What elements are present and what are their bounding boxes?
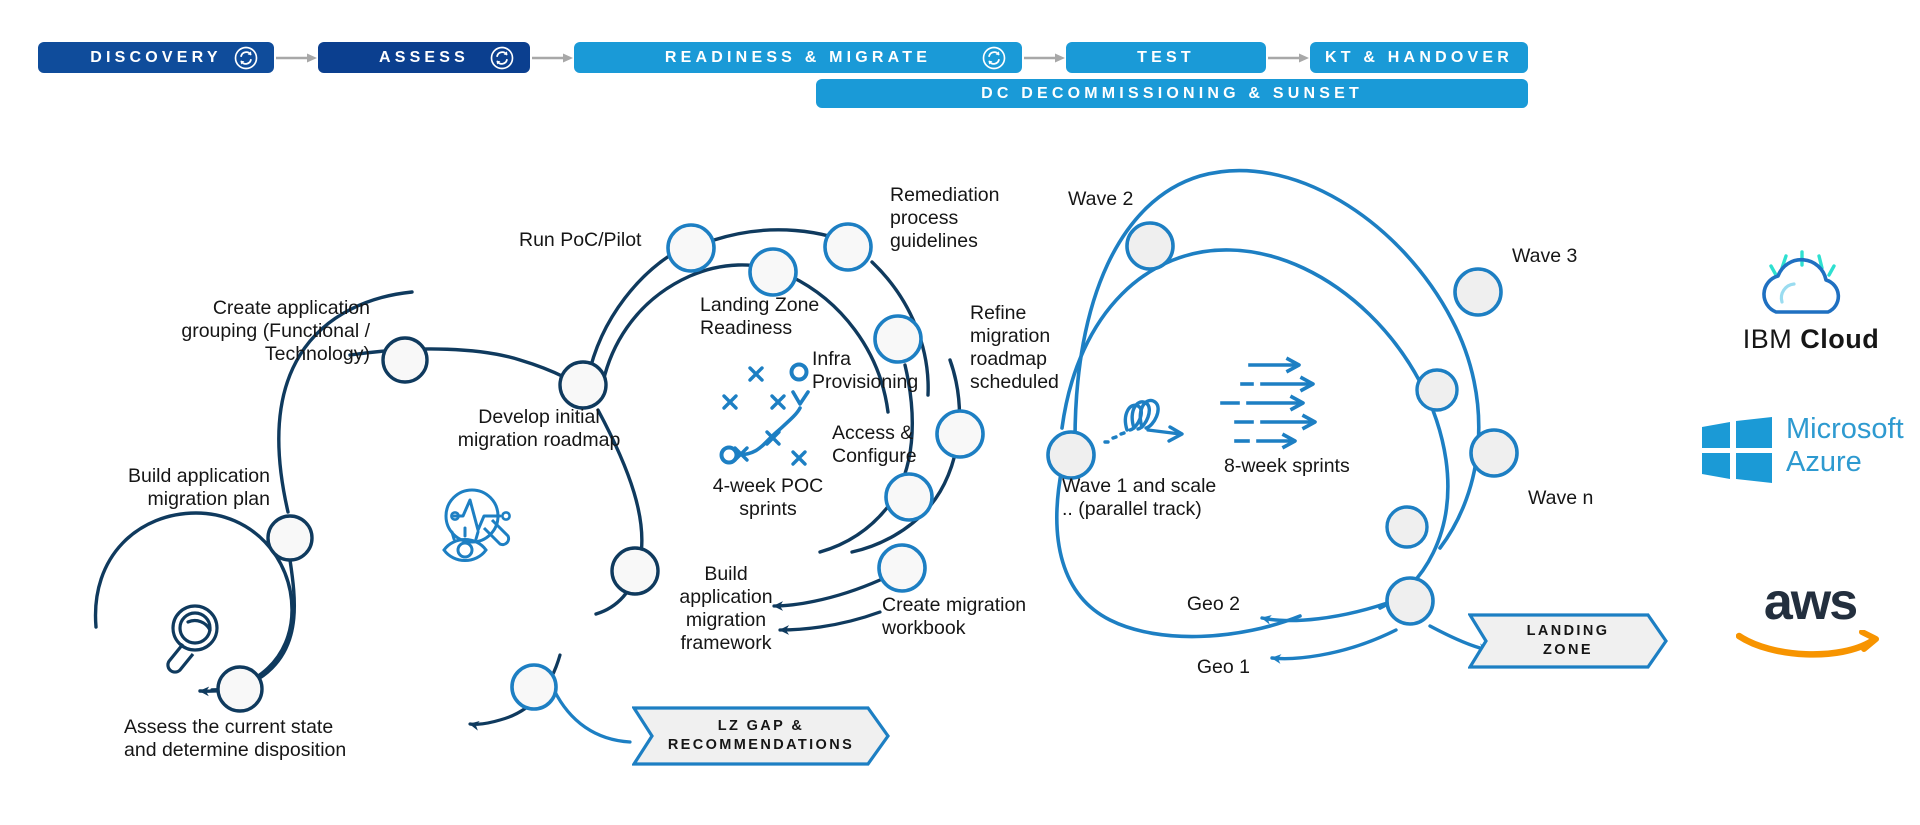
label-assess-current-state: Assess the current state and determine d… xyxy=(124,716,424,762)
node-create-application-grouping[interactable] xyxy=(383,338,427,382)
strategy-play-icon xyxy=(722,365,809,465)
logo-ibm-prefix: IBM xyxy=(1743,324,1793,354)
logo-azure-text: Microsoft Azure xyxy=(1786,413,1904,479)
logo-ibm-cloud: IBM Cloud xyxy=(1716,250,1906,360)
node-landing-zone-readiness[interactable] xyxy=(750,249,796,295)
label-wave-2: Wave 2 xyxy=(1068,188,1178,211)
ibm-cloud-icon xyxy=(1716,250,1906,326)
label-wave-1-and-scale: Wave 1 and scale .. (parallel track) xyxy=(1062,475,1252,521)
label-landing-zone-readiness: Landing Zone Readiness xyxy=(700,294,860,340)
label-infra-provisioning: Infra Provisioning xyxy=(812,348,952,394)
label-wave-n: Wave n xyxy=(1528,487,1638,510)
label-four-week-poc-sprints: 4-week POC sprints xyxy=(703,475,833,521)
label-build-application-migration-plan: Build application migration plan xyxy=(90,465,270,511)
node-assess-current-state[interactable] xyxy=(218,667,262,711)
banner-lz-gap-recommendations[interactable]: LZ GAP & RECOMMENDATIONS xyxy=(632,706,890,766)
node-create-migration-workbook[interactable] xyxy=(879,545,925,591)
node-develop-initial-migration-roadmap[interactable] xyxy=(560,362,606,408)
label-geo-2: Geo 2 xyxy=(1140,593,1240,616)
label-develop-initial-migration-roadmap: Develop initial migration roadmap xyxy=(434,406,644,452)
node-geo-hub[interactable] xyxy=(1387,578,1433,624)
label-run-poc-pilot: Run PoC/Pilot xyxy=(519,229,699,252)
node-wave-2[interactable] xyxy=(1127,223,1173,269)
label-create-application-grouping: Create application grouping (Functional … xyxy=(150,297,370,366)
node-wave-mid[interactable] xyxy=(1417,370,1457,410)
label-remediation-process-guidelines: Remediation process guidelines xyxy=(890,184,1030,253)
spiral-arrow-icon xyxy=(1105,400,1182,442)
node-wave-tail[interactable] xyxy=(1387,507,1427,547)
migration-journey-diagram xyxy=(0,0,1920,825)
node-wave-n[interactable] xyxy=(1471,430,1517,476)
banner-landing-zone-line2: ZONE xyxy=(1543,641,1593,660)
node-wave-1[interactable] xyxy=(1048,432,1094,478)
node-build-application-migration-framework[interactable] xyxy=(612,548,658,594)
label-build-application-migration-framework: Build application migration framework xyxy=(670,563,782,655)
node-wave-3[interactable] xyxy=(1455,269,1501,315)
node-lz-gap[interactable] xyxy=(512,665,556,709)
label-refine-migration-roadmap-scheduled: Refine migration roadmap scheduled xyxy=(970,302,1090,394)
label-geo-1: Geo 1 xyxy=(1150,656,1250,679)
banner-landing-zone-line1: LANDING xyxy=(1527,622,1610,641)
label-wave-3: Wave 3 xyxy=(1512,245,1622,268)
banner-landing-zone[interactable]: LANDING ZONE xyxy=(1468,613,1668,669)
logo-azure-line2: Azure xyxy=(1786,446,1904,479)
node-build-application-migration-plan[interactable] xyxy=(268,516,312,560)
parallel-arrows-icon xyxy=(1222,359,1315,447)
label-create-migration-workbook: Create migration workbook xyxy=(882,594,1062,640)
label-eight-week-sprints: 8-week sprints xyxy=(1224,455,1394,478)
label-access-configure: Access & Configure xyxy=(832,422,962,468)
magnifier-search-icon xyxy=(168,606,217,672)
logo-aws: aws xyxy=(1720,572,1900,662)
logo-ibm-suffix: Cloud xyxy=(1800,324,1879,354)
windows-logo-icon xyxy=(1700,417,1774,483)
aws-smile-icon xyxy=(1736,630,1886,664)
logo-microsoft-azure: Microsoft Azure xyxy=(1700,413,1920,483)
banner-lz-gap-line2: RECOMMENDATIONS xyxy=(668,736,854,755)
banner-lz-gap-line1: LZ GAP & xyxy=(718,717,805,736)
logo-azure-line1: Microsoft xyxy=(1786,413,1904,446)
logo-aws-text: aws xyxy=(1720,572,1900,632)
logo-ibm-cloud-text: IBM Cloud xyxy=(1716,324,1906,355)
node-access-configure[interactable] xyxy=(886,474,932,520)
node-remediation-process-guidelines[interactable] xyxy=(825,224,871,270)
